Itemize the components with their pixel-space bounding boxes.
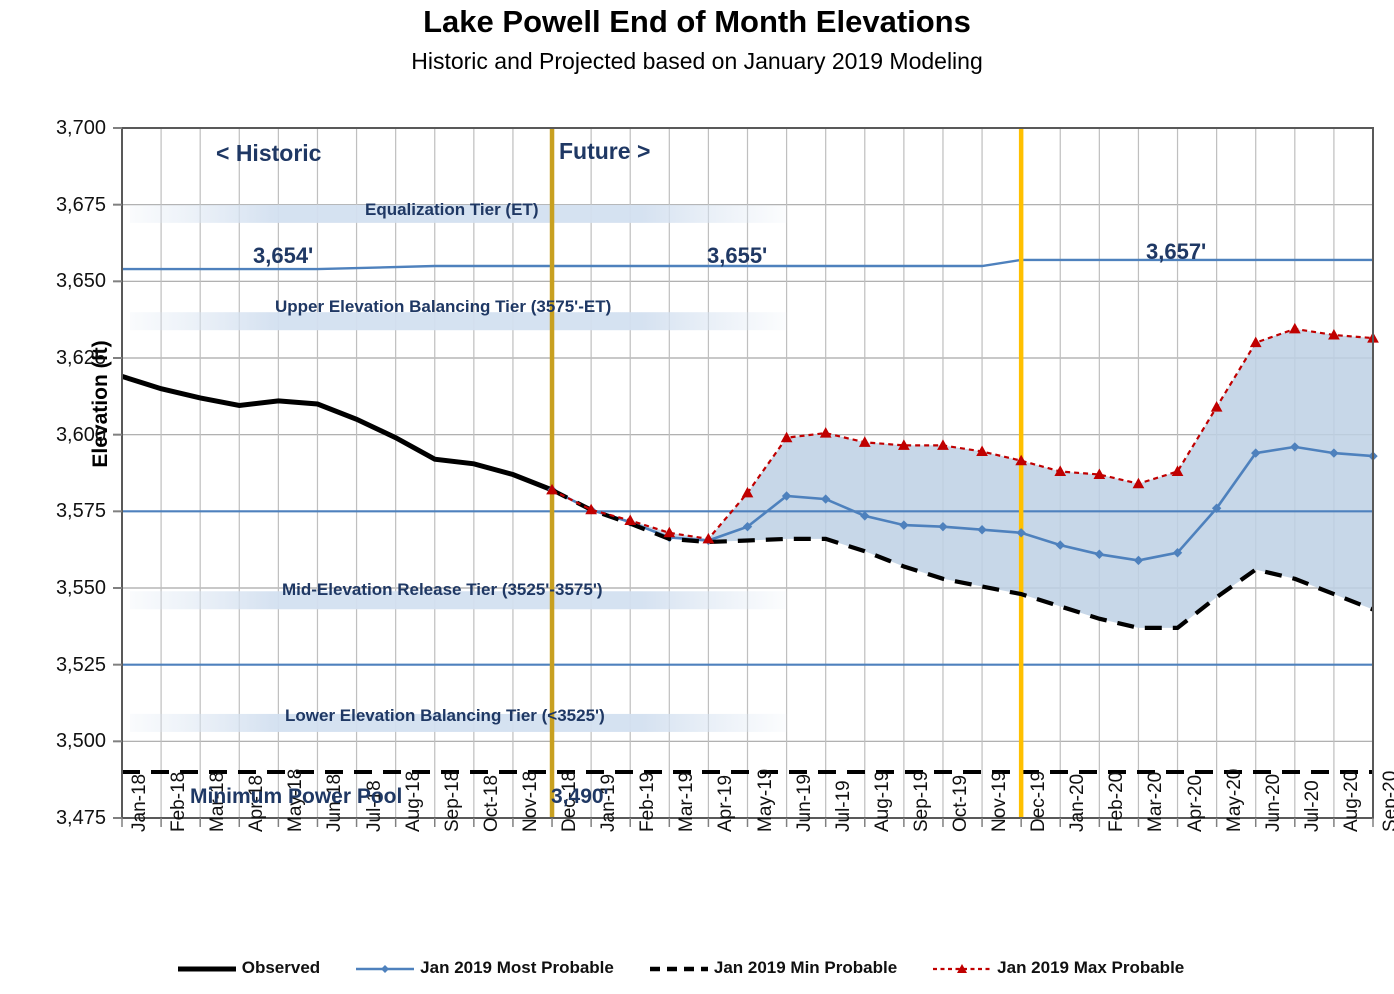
x-tick-label: Sep-18 — [442, 771, 464, 832]
x-tick-label: Sep-20 — [1380, 771, 1394, 832]
x-tick-label: Jun-20 — [1263, 774, 1285, 832]
historic-label: < Historic — [216, 140, 321, 167]
elevation-3655-label: 3,655' — [707, 243, 767, 269]
x-tick-label: Oct-19 — [950, 775, 972, 832]
x-tick-label: Sep-19 — [911, 771, 933, 832]
x-tick-label: Mar-20 — [1145, 772, 1167, 832]
legend-item[interactable]: Jan 2019 Most Probable — [354, 958, 614, 978]
mid-elevation-release-tier-label: Mid-Elevation Release Tier (3525'-3575') — [282, 580, 603, 600]
x-tick-label: May-20 — [1224, 769, 1246, 832]
legend-item[interactable]: Jan 2019 Min Probable — [648, 958, 897, 978]
legend-label: Jan 2019 Min Probable — [714, 958, 897, 978]
legend-swatch-jan-2019-max-probable — [931, 961, 993, 975]
legend-item[interactable]: Observed — [176, 958, 320, 978]
x-tick-label: Jun-19 — [794, 774, 816, 832]
x-tick-label: Aug-19 — [872, 771, 894, 832]
x-tick-label: Apr-19 — [715, 775, 737, 832]
x-tick-label: Jan-18 — [129, 774, 151, 832]
x-axis-tick-labels: Jan-18Feb-18Mar-18Apr-18May-18Jun-18Jul-… — [0, 0, 1394, 994]
elevation-3654-label: 3,654' — [253, 243, 313, 269]
x-tick-label: Apr-20 — [1185, 775, 1207, 832]
elevation-3657-label: 3,657' — [1146, 239, 1206, 265]
minimum-power-pool-label: Minimum Power Pool — [190, 785, 402, 809]
x-tick-label: Aug-20 — [1341, 771, 1363, 832]
future-label: Future > — [559, 138, 650, 165]
x-tick-label: Dec-19 — [1028, 771, 1050, 832]
x-tick-label: Nov-19 — [989, 771, 1011, 832]
x-tick-label: Feb-20 — [1106, 772, 1128, 832]
chart-legend: ObservedJan 2019 Most ProbableJan 2019 M… — [0, 958, 1394, 978]
x-tick-label: May-19 — [755, 769, 777, 832]
lower-elevation-balancing-tier-label: Lower Elevation Balancing Tier (<3525') — [285, 706, 605, 726]
legend-swatch-jan-2019-most-probable — [354, 961, 416, 975]
elevation-3490-label: 3,490' — [551, 785, 609, 809]
legend-item[interactable]: Jan 2019 Max Probable — [931, 958, 1184, 978]
x-tick-label: Feb-18 — [168, 772, 190, 832]
x-tick-label: Jan-20 — [1067, 774, 1089, 832]
x-tick-label: Nov-18 — [520, 771, 542, 832]
x-tick-label: Mar-19 — [676, 772, 698, 832]
chart-canvas: Lake Powell End of Month Elevations Hist… — [0, 0, 1394, 994]
legend-label: Jan 2019 Max Probable — [997, 958, 1184, 978]
x-tick-label: Oct-18 — [481, 775, 503, 832]
x-tick-label: Jul-19 — [833, 780, 855, 832]
legend-label: Jan 2019 Most Probable — [420, 958, 614, 978]
legend-swatch-observed — [176, 961, 238, 975]
x-tick-label: Feb-19 — [637, 772, 659, 832]
legend-label: Observed — [242, 958, 320, 978]
x-tick-label: Jul-20 — [1302, 780, 1324, 832]
equalization-tier-label: Equalization Tier (ET) — [365, 200, 538, 220]
legend-swatch-jan-2019-min-probable — [648, 961, 710, 975]
x-tick-label: Aug-18 — [403, 771, 425, 832]
upper-elevation-balancing-tier-label: Upper Elevation Balancing Tier (3575'-ET… — [275, 297, 611, 317]
